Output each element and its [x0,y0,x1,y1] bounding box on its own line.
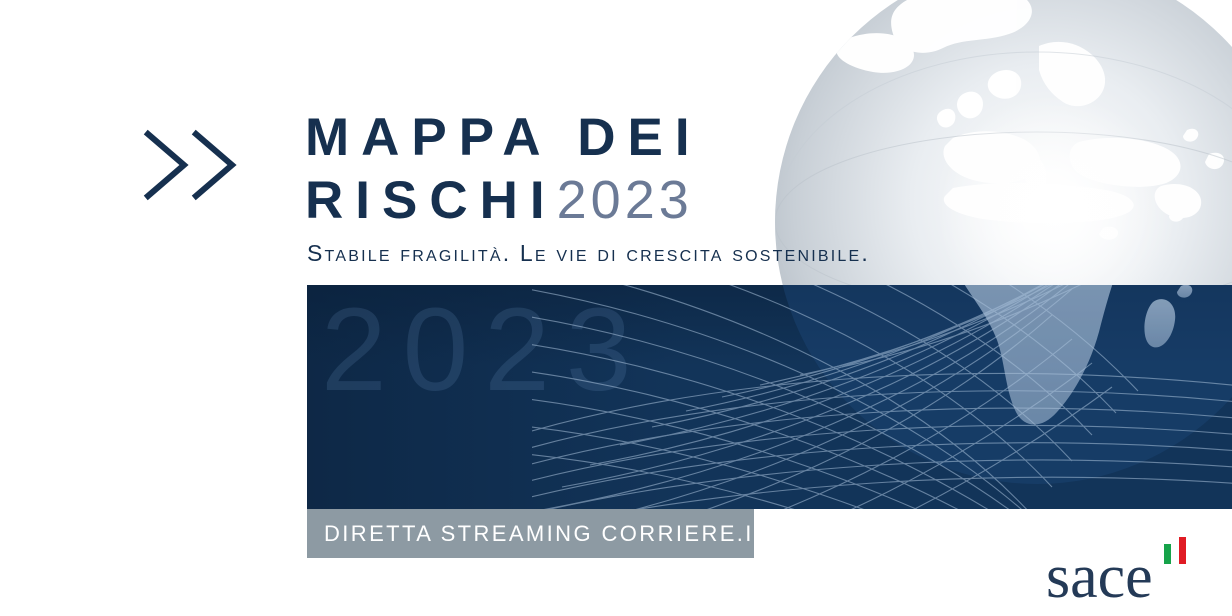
arc-lattice-pattern-icon [532,285,1232,509]
headline-year: 2023 [557,170,693,230]
italian-flag-bars-icon [1160,534,1190,564]
headline-line-2: RISCHI2023 [305,169,945,232]
event-banner: 2023 [0,0,1232,616]
navy-info-panel: 2023 [307,285,1232,509]
page-title: MAPPA DEI RISCHI2023 [305,106,945,232]
headline-word-rischi: RISCHI [305,171,557,230]
double-chevron-right-icon [142,128,242,202]
headline-line-1: MAPPA DEI [305,106,945,169]
logo-wordmark: sace [1046,546,1153,608]
streaming-label: DIRETTA STREAMING CORRIERE.IT [324,521,770,547]
subtitle: Stabile fragilità. Le vie di crescita so… [307,239,870,267]
streaming-bar[interactable]: DIRETTA STREAMING CORRIERE.IT [307,509,754,558]
sace-logo[interactable]: sace [1046,530,1196,610]
